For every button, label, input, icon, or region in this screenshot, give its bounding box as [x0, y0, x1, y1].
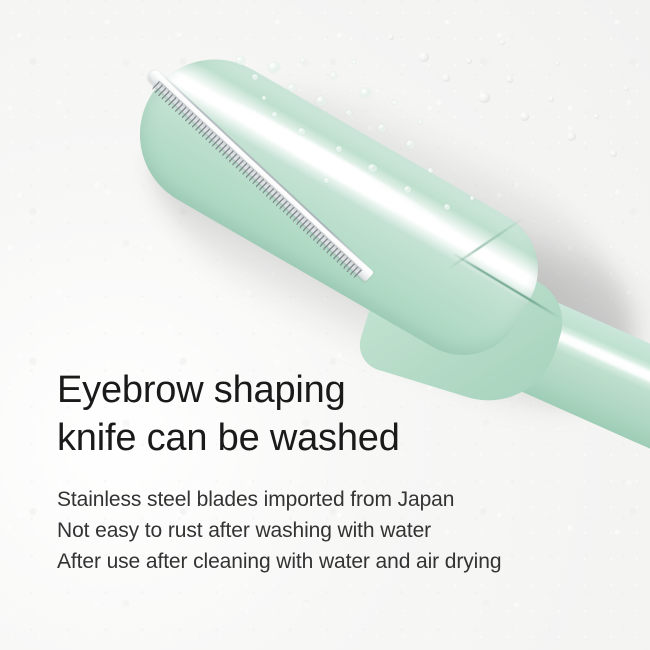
water-droplet — [268, 62, 280, 73]
water-droplet — [252, 74, 258, 80]
water-droplet — [236, 56, 245, 65]
water-droplet — [378, 124, 386, 132]
water-droplet — [566, 132, 576, 141]
product-image-canvas: Eyebrow shaping knife can be washed Stai… — [0, 0, 650, 650]
water-droplet — [300, 58, 305, 63]
water-droplet — [388, 34, 394, 40]
water-droplet — [352, 60, 356, 64]
water-droplet — [368, 164, 377, 172]
feature-item: After use after cleaning with water and … — [57, 546, 617, 577]
water-droplet — [324, 178, 329, 183]
water-droplet — [336, 146, 342, 152]
water-droplet — [418, 120, 422, 124]
water-droplet — [610, 150, 617, 157]
water-droplet — [466, 58, 472, 64]
water-droplet — [428, 168, 433, 173]
water-droplet — [272, 112, 277, 117]
water-droplet — [298, 128, 305, 135]
water-droplet — [346, 110, 352, 116]
water-droplet — [470, 196, 474, 200]
feature-list: Stainless steel blades imported from Jap… — [57, 484, 617, 577]
water-droplet — [316, 96, 326, 106]
water-droplet — [556, 62, 560, 66]
water-droplet — [406, 140, 415, 149]
feature-item: Stainless steel blades imported from Jap… — [57, 484, 617, 515]
marketing-copy: Eyebrow shaping knife can be washed Stai… — [57, 366, 617, 577]
water-droplet — [478, 92, 490, 103]
headline: Eyebrow shaping knife can be washed — [57, 366, 617, 462]
water-droplet — [404, 186, 411, 193]
water-droplet — [624, 86, 629, 91]
water-droplet — [392, 100, 397, 105]
water-droplet — [262, 96, 266, 100]
water-droplet — [288, 84, 296, 92]
water-droplet — [548, 96, 554, 102]
water-droplet — [330, 72, 337, 79]
water-droplet — [360, 88, 371, 98]
water-droplet — [442, 74, 450, 82]
water-droplet — [500, 40, 505, 45]
water-droplet — [520, 112, 529, 121]
water-droplet — [594, 114, 599, 119]
feature-item: Not easy to rust after washing with wate… — [57, 515, 617, 546]
water-droplet — [506, 76, 513, 83]
water-droplet — [444, 204, 450, 210]
water-droplet — [418, 52, 429, 62]
